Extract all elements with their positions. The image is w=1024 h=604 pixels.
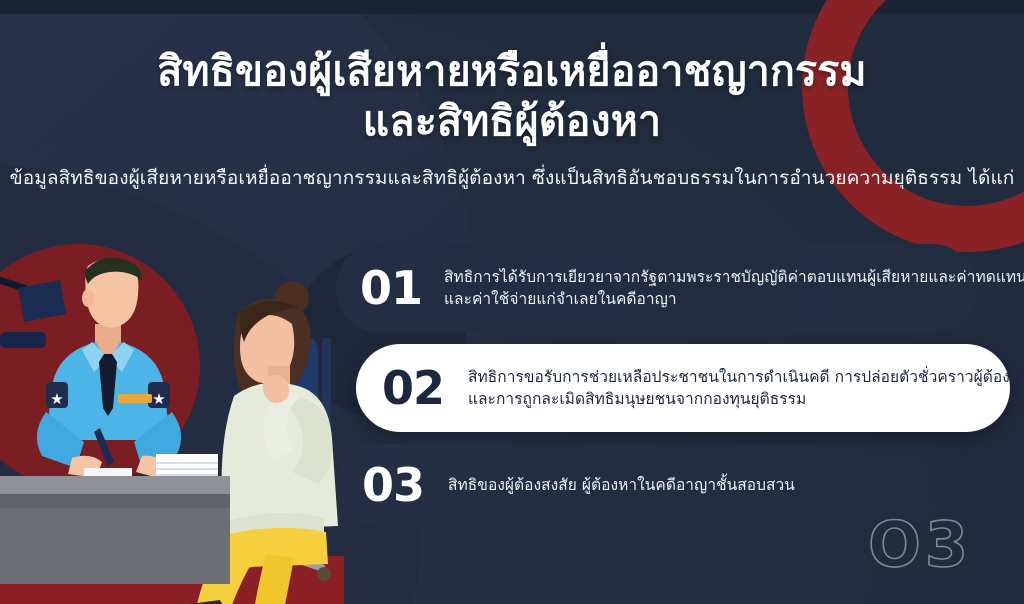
list-item-number: 03	[362, 462, 424, 508]
rights-list: 01 สิทธิการได้รับการเยียวยาจากรัฐตามพระร…	[0, 236, 1024, 526]
page-subtitle: ข้อมูลสิทธิของผู้เสียหายหรือเหยื่ออาชญาก…	[0, 166, 1024, 192]
list-item-text-line-1: สิทธิการขอรับการช่วยเหลือประชาชนในการดำเ…	[468, 366, 1024, 388]
page-number-watermark: O3	[868, 514, 972, 576]
infographic-page: สิทธิของผู้เสียหายหรือเหยื่ออาชญากรรม แล…	[0, 0, 1024, 604]
page-title-line-1: สิทธิของผู้เสียหายหรือเหยื่ออาชญากรรม	[0, 46, 1024, 96]
list-item-text-line-1: สิทธิของผู้ต้องสงสัย ผู้ต้องหาในคดีอาญาช…	[448, 474, 960, 496]
list-item-text: สิทธิการขอรับการช่วยเหลือประชาชนในการดำเ…	[468, 366, 1024, 411]
list-item-text-line-1: สิทธิการได้รับการเยียวยาจากรัฐตามพระราชบ…	[444, 266, 1024, 288]
list-item-text: สิทธิการได้รับการเยียวยาจากรัฐตามพระราชบ…	[444, 266, 1024, 311]
list-item-text: สิทธิของผู้ต้องสงสัย ผู้ต้องหาในคดีอาญาช…	[448, 474, 986, 496]
page-header: สิทธิของผู้เสียหายหรือเหยื่ออาชญากรรม แล…	[0, 46, 1024, 192]
page-title-line-2: และสิทธิผู้ต้องหา	[0, 96, 1024, 146]
list-item-number: 01	[360, 265, 422, 311]
list-item-01[interactable]: 01 สิทธิการได้รับการเยียวยาจากรัฐตามพระร…	[336, 244, 976, 332]
list-item-02[interactable]: 02 สิทธิการขอรับการช่วยเหลือประชาชนในการ…	[356, 344, 1010, 432]
list-item-text-line-2: และค่าใช้จ่ายแก่จำเลยในคดีอาญา	[444, 288, 1024, 310]
list-item-number: 02	[382, 365, 444, 411]
list-item-text-line-2: และการถูกละเมิดสิทธิมนุษยชนจากกองทุนยุติ…	[468, 388, 1024, 410]
